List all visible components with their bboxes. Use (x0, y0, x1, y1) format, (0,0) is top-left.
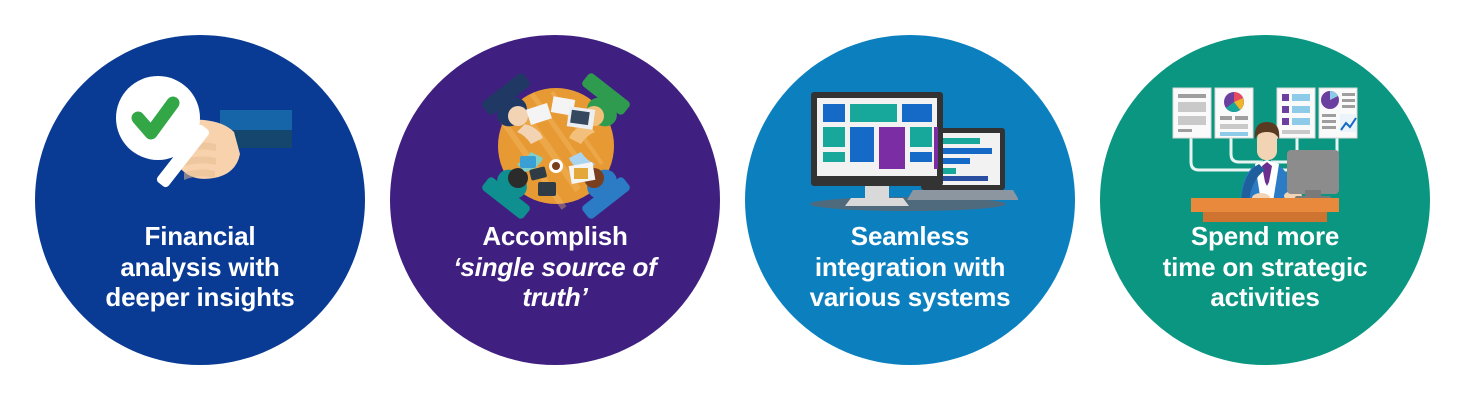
report-card (1277, 88, 1315, 138)
icon-container (745, 67, 1075, 227)
caption-line: Financial (50, 221, 350, 252)
caption-line: various systems (760, 282, 1060, 313)
benefit-circle-single-source-of-truth: Accomplish ‘single source of truth’ (390, 35, 720, 365)
team-meeting-table-icon (468, 72, 643, 222)
caption-line: analysis with (50, 252, 350, 283)
benefit-circle-strategic-activities: Spend more time on strategic activities (1100, 35, 1430, 365)
caption-line: Spend more (1115, 221, 1415, 252)
icon-container (1100, 67, 1430, 227)
magnifying-glass-check-icon (100, 72, 300, 222)
report-card (1215, 88, 1253, 138)
caption-line: ‘single source of (405, 252, 705, 283)
caption-line: Seamless (760, 221, 1060, 252)
benefit-caption: Spend more time on strategic activities (1115, 221, 1415, 313)
infographic-board: Financial analysis with deeper insights (0, 0, 1478, 400)
benefit-caption: Seamless integration with various system… (760, 221, 1060, 313)
caption-line: deeper insights (50, 282, 350, 313)
caption-line: time on strategic (1115, 252, 1415, 283)
caption-line: truth’ (405, 282, 705, 313)
analyst-at-desk-reports-icon (1165, 72, 1365, 222)
benefit-circle-seamless-integration: Seamless integration with various system… (745, 35, 1075, 365)
icon-container (390, 67, 720, 227)
benefit-caption: Accomplish ‘single source of truth’ (405, 221, 705, 313)
report-card (1173, 88, 1211, 138)
caption-line: integration with (760, 252, 1060, 283)
report-card (1319, 88, 1357, 138)
caption-line: Accomplish (405, 221, 705, 252)
benefit-circle-financial-analysis: Financial analysis with deeper insights (35, 35, 365, 365)
benefit-caption: Financial analysis with deeper insights (50, 221, 350, 313)
caption-line: activities (1115, 282, 1415, 313)
icon-container (35, 67, 365, 227)
desktop-laptop-dashboard-icon (803, 72, 1018, 222)
